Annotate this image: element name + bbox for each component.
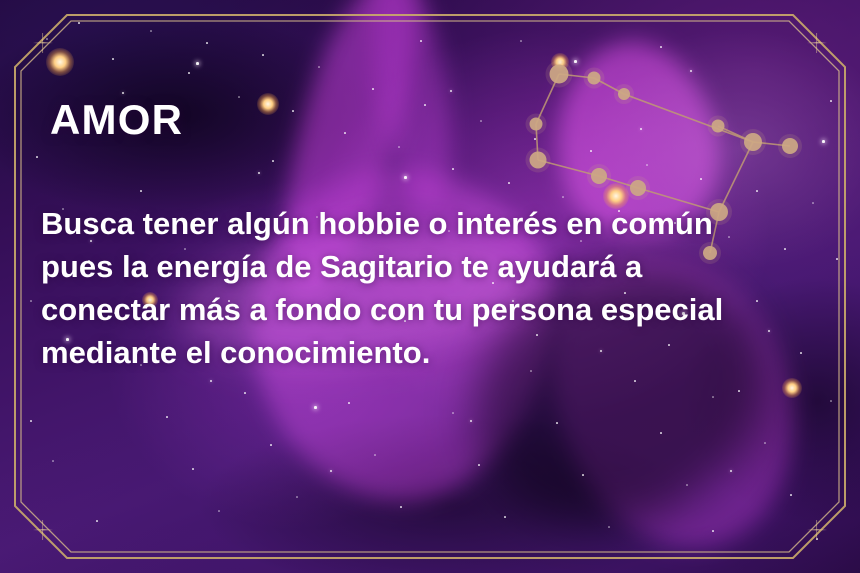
body-text-line-4: mediante el conocimiento. [41, 331, 821, 374]
body-text-line-2: pues la energía de Sagitario te ayudará … [41, 245, 821, 288]
body-text-line-1: Busca tener algún hobbie o interés en co… [41, 202, 821, 245]
horoscope-card: AMOR Busca tener algún hobbie o interés … [0, 0, 860, 573]
horoscope-body-text: Busca tener algún hobbie o interés en co… [41, 202, 821, 374]
body-text-line-3: conectar más a fondo con tu persona espe… [41, 288, 821, 331]
section-heading: AMOR [50, 96, 183, 144]
card-content: AMOR Busca tener algún hobbie o interés … [0, 0, 860, 573]
